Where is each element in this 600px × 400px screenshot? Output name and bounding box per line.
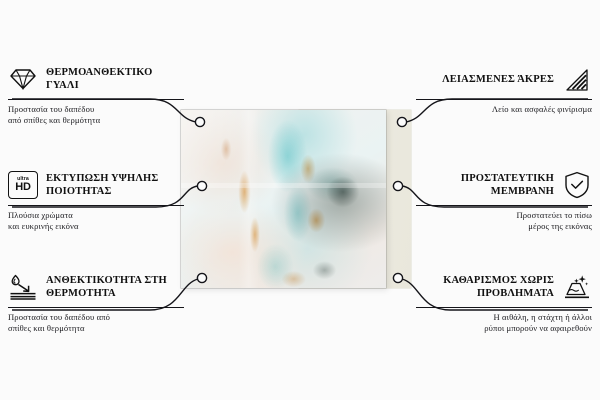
infographic-stage: ΘΕΡΜΟΑΝΘΕΚΤΙΚΟ ΓΥΑΛΙ Προστασία του δαπέδ… [0, 0, 600, 400]
artwork-grey-layer [181, 110, 386, 288]
feature-polished-edges: ΛΕΙΑΣΜΕΝΕΣ ΆΚΡΕΣ Λείο και ασφαλές φινίρι… [416, 62, 592, 115]
feature-title: ΚΑΘΑΡΙΣΜΟΣ ΧΩΡΙΣ ΠΡΟΒΛΗΜΑΤΑ [416, 274, 554, 300]
product-image [181, 110, 411, 290]
glass-splashback-panel [181, 110, 386, 288]
feature-high-quality-print: ultra HD ΕΚΤΥΠΩΣΗ ΥΨΗΛΗΣ ΠΟΙΟΤΗΤΑΣ Πλούσ… [8, 168, 184, 233]
feature-heat-resistant-glass: ΘΕΡΜΟΑΝΘΕΚΤΙΚΟ ΓΥΑΛΙ Προστασία του δαπέδ… [8, 62, 184, 127]
feature-title: ΛΕΙΑΣΜΕΝΕΣ ΆΚΡΕΣ [416, 73, 554, 86]
feature-header: ultra HD ΕΚΤΥΠΩΣΗ ΥΨΗΛΗΣ ΠΟΙΟΤΗΤΑΣ [8, 168, 184, 202]
heat-resistant-icon [8, 272, 38, 302]
easy-clean-icon [562, 272, 592, 302]
feature-description: Λείο και ασφαλές φινίρισμα [416, 104, 592, 115]
feature-divider [416, 307, 592, 308]
shield-check-icon [562, 170, 592, 200]
feature-desc-line-2: από σπίθες και θερμότητα [8, 115, 100, 125]
feature-desc-line-2: σπίθες και θερμότητα [8, 323, 85, 333]
feature-description: Προστασία του δαπέδου από σπίθες και θερ… [8, 312, 184, 335]
feature-divider [416, 99, 592, 100]
feature-desc-line-2: και ευκρινής εικόνα [8, 221, 79, 231]
feature-description: Πλούσια χρώματα και ευκρινής εικόνα [8, 210, 184, 233]
feature-divider [416, 205, 592, 206]
ultra-hd-icon: ultra HD [8, 170, 38, 200]
feature-header: ΠΡΟΣΤΑΤΕΥΤΙΚΗ ΜΕΜΒΡΑΝΗ [416, 168, 592, 202]
feature-desc-line-1: Λείο και ασφαλές φινίρισμα [492, 104, 592, 114]
feature-description: Προστατεύει το πίσω μέρος της εικόνας [416, 210, 592, 233]
hd-badge-bottom: HD [15, 182, 31, 193]
feature-header: ΛΕΙΑΣΜΕΝΕΣ ΆΚΡΕΣ [416, 62, 592, 96]
feature-desc-line-2: μέρος της εικόνας [528, 221, 592, 231]
feature-divider [8, 307, 184, 308]
feature-protective-membrane: ΠΡΟΣΤΑΤΕΥΤΙΚΗ ΜΕΜΒΡΑΝΗ Προστατεύει το πί… [416, 168, 592, 233]
feature-title: ΠΡΟΣΤΑΤΕΥΤΙΚΗ ΜΕΜΒΡΑΝΗ [416, 172, 554, 198]
feature-title: ΑΝΘΕΚΤΙΚΟΤΗΤΑ ΣΤΗ ΘΕΡΜΟΤΗΤΑ [46, 274, 184, 300]
feature-desc-line-2: ρύποι μπορούν να αφαιρεθούν [484, 323, 592, 333]
hd-badge: ultra HD [8, 171, 38, 199]
feature-description: Προστασία του δαπέδου από σπίθες και θερ… [8, 104, 184, 127]
feature-title: ΕΚΤΥΠΩΣΗ ΥΨΗΛΗΣ ΠΟΙΟΤΗΤΑΣ [46, 172, 184, 198]
feature-header: ΚΑΘΑΡΙΣΜΟΣ ΧΩΡΙΣ ΠΡΟΒΛΗΜΑΤΑ [416, 270, 592, 304]
feature-heat-durability: ΑΝΘΕΚΤΙΚΟΤΗΤΑ ΣΤΗ ΘΕΡΜΟΤΗΤΑ Προστασία το… [8, 270, 184, 335]
feature-desc-line-1: Η αιθάλη, η στάχτη ή άλλοι [494, 312, 593, 322]
feature-header: ΑΝΘΕΚΤΙΚΟΤΗΤΑ ΣΤΗ ΘΕΡΜΟΤΗΤΑ [8, 270, 184, 304]
feature-title: ΘΕΡΜΟΑΝΘΕΚΤΙΚΟ ΓΥΑΛΙ [46, 66, 184, 92]
feature-desc-line-1: Προστασία του δαπέδου από [8, 312, 110, 322]
polished-edges-icon [562, 64, 592, 94]
feature-desc-line-1: Προστασία του δαπέδου [8, 104, 94, 114]
feature-easy-cleaning: ΚΑΘΑΡΙΣΜΟΣ ΧΩΡΙΣ ΠΡΟΒΛΗΜΑΤΑ Η αιθάλη, η … [416, 270, 592, 335]
feature-divider [8, 205, 184, 206]
feature-header: ΘΕΡΜΟΑΝΘΕΚΤΙΚΟ ΓΥΑΛΙ [8, 62, 184, 96]
feature-description: Η αιθάλη, η στάχτη ή άλλοι ρύποι μπορούν… [416, 312, 592, 335]
feature-desc-line-1: Προστατεύει το πίσω [516, 210, 592, 220]
feature-desc-line-1: Πλούσια χρώματα [8, 210, 73, 220]
feature-divider [8, 99, 184, 100]
diamond-icon [8, 64, 38, 94]
